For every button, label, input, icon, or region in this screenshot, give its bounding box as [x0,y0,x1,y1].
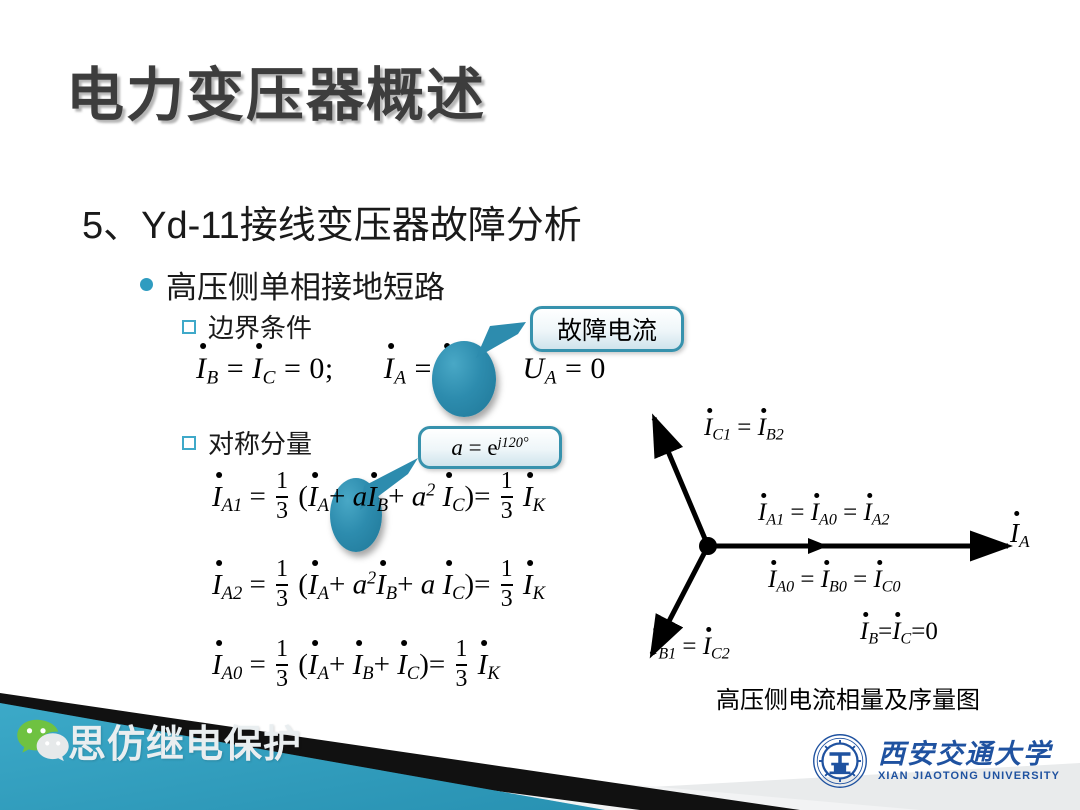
bullet-square-icon [182,436,196,450]
bullet-boundary-conditions: 边界条件 [182,308,312,345]
bullet-symmetrical-label: 对称分量 [208,424,312,461]
university-logo: 西安交通大学 XIAN JIAOTONG UNIVERSITY [812,730,1064,792]
university-name-block: 西安交通大学 XIAN JIAOTONG UNIVERSITY [878,741,1060,782]
equation-positive-sequence: IA1 = 13 (IA+ aIB+ a2 IC)= 13 IK [212,470,545,524]
page-title: 电力变压器概述 [66,48,486,132]
callout-operator-a: a = ej120° [418,426,562,469]
bullet-hv-single-phase-fault: 高压侧单相接地短路 [140,262,445,307]
frac-numerator: 1 [501,558,513,582]
university-name-en: XIAN JIAOTONG UNIVERSITY [878,771,1060,782]
callout-fault-current: 故障电流 [530,306,684,352]
callout-fault-current-label: 故障电流 [557,311,657,347]
frac-denominator: 3 [276,588,288,612]
phasor-label-ib-ic-zero: IB=IC=0 [860,618,938,648]
vector-c1-b2 [654,418,708,546]
university-name-cn: 西安交通大学 [878,741,1060,768]
equation-negative-sequence: IA2 = 13 (IA+ a2IB+ a IC)= 13 IK [212,558,545,612]
university-seal-icon [812,733,868,789]
watermark-label: 思仿继电保护 [68,713,302,768]
bullet-boundary-label: 边界条件 [208,308,312,345]
phasor-label-ia: IA [1010,518,1030,552]
vector-ia-mid-arrow [808,538,828,554]
frac-numerator: 1 [276,470,288,494]
phasor-label-a0-b0-c0: IA0 = IB0 = IC0 [768,566,900,596]
bullet-dot-icon [140,278,153,291]
phasor-diagram: IC1 = IB2 IA1 = IA0 = IA2 IA IA0 = IB0 =… [612,396,1080,696]
bullet-square-icon [182,320,196,334]
slide-canvas: 电力变压器概述 5、Yd-11接线变压器故障分析 高压侧单相接地短路 边界条件 … [0,0,1080,810]
bullet-symmetrical-components: 对称分量 [182,424,312,461]
frac-denominator: 3 [501,500,513,524]
frac-denominator: 3 [276,500,288,524]
phasor-label-a1-a0-a2: IA1 = IA0 = IA2 [758,499,890,529]
wechat-icon [16,718,70,762]
origin-node [699,537,717,555]
frac-numerator: 1 [501,470,513,494]
frac-numerator: 1 [276,558,288,582]
phasor-label-c1-b2: IC1 = IB2 [704,414,784,444]
callout-operator-a-label: a = ej120° [451,435,528,461]
section-heading: 5、Yd-11接线变压器故障分析 [82,194,582,249]
bullet-l2-label: 高压侧单相接地短路 [166,262,445,307]
frac-denominator: 3 [501,588,513,612]
